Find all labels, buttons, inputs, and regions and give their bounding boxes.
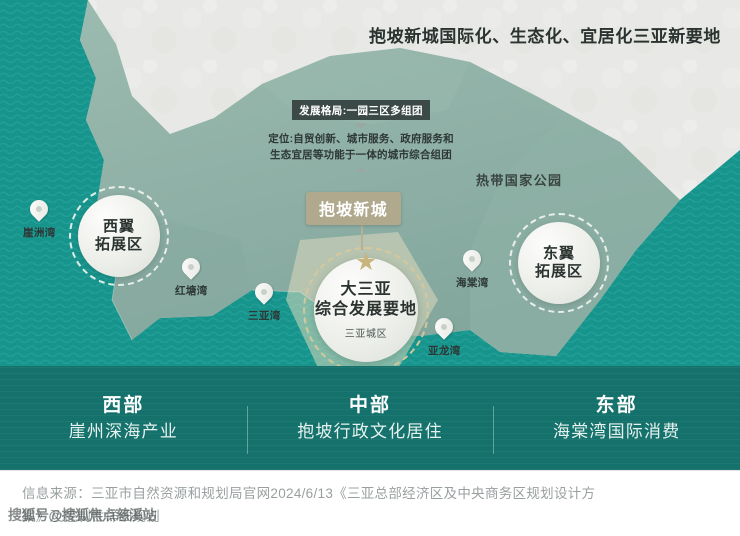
hub-east-title: 东翼 拓展区: [535, 245, 583, 282]
map-pin-icon: [255, 283, 273, 307]
hub-center-title: 大三亚 综合发展要地: [315, 280, 417, 319]
hub-east-wing-expansion: 东翼 拓展区: [518, 222, 600, 304]
region-east-subtitle: 海棠湾国际消费: [493, 421, 740, 442]
hub-west-title: 西翼 拓展区: [95, 218, 143, 255]
source-text-line-1: 信息来源：三亚市自然资源和规划局官网2024/6/13《三亚总部经济区及中央商务…: [22, 482, 595, 502]
baopo-new-town-label: 抱坡新城: [306, 192, 401, 225]
region-column-central: 中部 抱坡行政文化居住: [247, 394, 494, 443]
region-summary-band: 西部 崖州深海产业 中部 抱坡行政文化居住 东部 海棠湾国际消费: [0, 366, 740, 470]
map-pin-icon: [182, 258, 200, 282]
page-title: 抱坡新城国际化、生态化、宜居化三亚新要地: [355, 22, 735, 47]
map-pin-icon: [463, 250, 481, 274]
callout-description-line-1: 定位:自贸创新、城市服务、政府服务和: [243, 131, 479, 147]
hub-east-title-line-2: 拓展区: [535, 263, 583, 281]
map-pin-label: 三亚湾: [248, 308, 281, 323]
star-icon: ★: [354, 250, 378, 274]
footer-divider: [0, 470, 740, 471]
triangle-up-icon: [355, 166, 367, 172]
region-west-subtitle: 崖州深海产业: [0, 421, 247, 442]
hub-center-title-line-2: 综合发展要地: [315, 300, 417, 320]
triangle-down-icon: [355, 123, 367, 129]
map-pin-sanyawan[interactable]: 三亚湾: [248, 283, 281, 323]
hub-west-title-line-2: 拓展区: [95, 236, 143, 254]
map-pin-label: 红塘湾: [175, 283, 208, 298]
map-pin-yazhouwan[interactable]: 崖洲湾: [23, 200, 56, 240]
map-pin-haitangwan[interactable]: 海棠湾: [456, 250, 489, 290]
map-pin-hongtangwan[interactable]: 红塘湾: [175, 258, 208, 298]
map-pin-label: 亚龙湾: [428, 343, 461, 358]
region-central-subtitle: 抱坡行政文化居住: [247, 421, 494, 442]
callout-description: 定位:自贸创新、城市服务、政府服务和 生态宜居等功能于一体的城市综合组团: [243, 131, 479, 164]
hub-center-title-line-1: 大三亚: [315, 280, 417, 300]
callout-block: 发展格局:一园三区多组团 定位:自贸创新、城市服务、政府服务和 生态宜居等功能于…: [243, 100, 479, 172]
hub-east-title-line-1: 东翼: [535, 245, 583, 263]
connector-stem: [361, 224, 363, 250]
map-pin-yalongwan[interactable]: 亚龙湾: [428, 318, 461, 358]
source-footer: 信息来源：三亚市自然资源和规划局官网2024/6/13《三亚总部经济区及中央商务…: [0, 470, 740, 536]
map-pin-label: 海棠湾: [456, 275, 489, 290]
map-pin-label: 崖洲湾: [23, 225, 56, 240]
region-west-title: 西部: [0, 394, 247, 418]
region-east-title: 东部: [493, 394, 740, 418]
tropical-national-park-label: 热带国家公园: [476, 170, 562, 189]
map-canvas: 抱坡新城国际化、生态化、宜居化三亚新要地 发展格局:一园三区多组团 定位:自贸创…: [0, 0, 740, 470]
region-column-west: 西部 崖州深海产业: [0, 394, 247, 443]
hub-west-title-line-1: 西翼: [95, 218, 143, 236]
region-column-east: 东部 海棠湾国际消费: [493, 394, 740, 443]
watermark-text: 搜狐号@搜狐焦点慈溪站: [8, 505, 156, 525]
callout-description-line-2: 生态宜居等功能于一体的城市综合组团: [243, 147, 479, 163]
hub-center-subtitle: 三亚城区: [345, 325, 387, 340]
map-pin-icon: [30, 200, 48, 224]
hub-west-wing-expansion: 西翼 拓展区: [78, 195, 160, 277]
region-central-title: 中部: [247, 394, 494, 418]
development-pattern-tag: 发展格局:一园三区多组团: [292, 100, 430, 120]
map-pin-icon: [435, 318, 453, 342]
